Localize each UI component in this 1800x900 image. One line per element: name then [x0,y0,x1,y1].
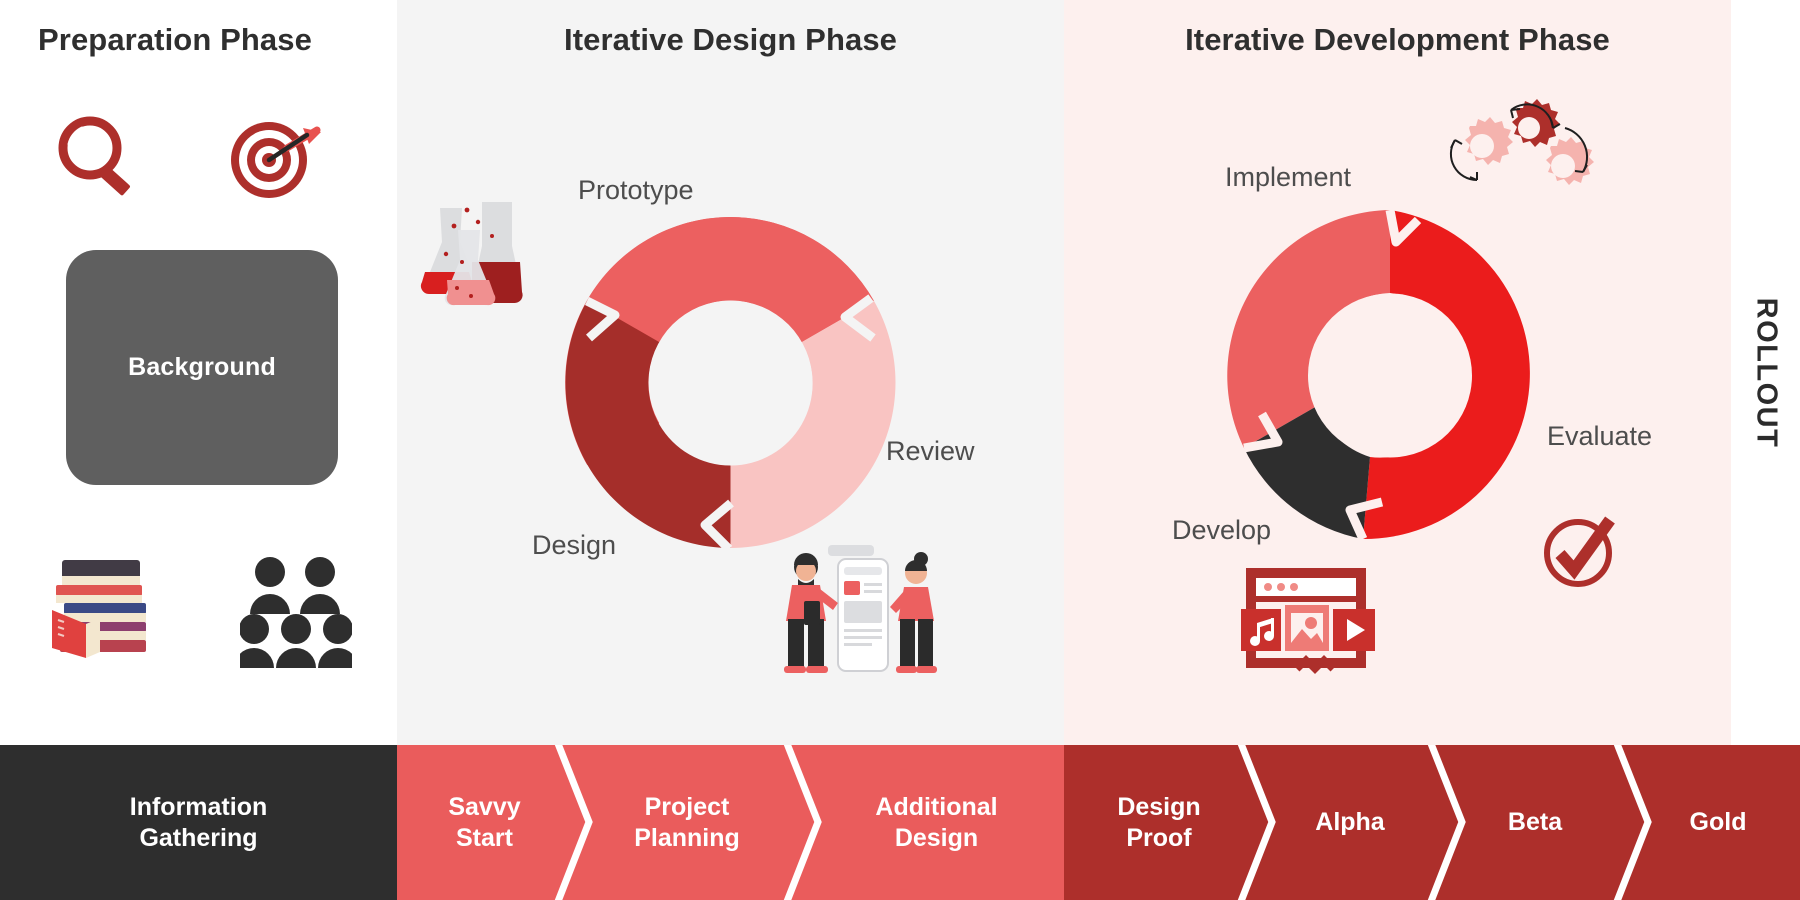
step-label: Gold [1690,807,1747,838]
step-design-proof[interactable]: Design Proof [1064,745,1254,900]
background-box: Background [66,250,338,485]
background-box-label: Background [128,353,276,382]
step-beta[interactable]: Beta [1450,745,1620,900]
media-window-icon [1235,565,1380,690]
preparation-phase-title: Preparation Phase [0,22,312,58]
donut-label-review: Review [886,436,975,467]
step-label: Additional Design [875,792,997,853]
target-icon [225,108,325,209]
iterative-development-phase-title: Iterative Development Phase [1064,22,1731,58]
step-label: Information Gathering [130,792,268,853]
panel-preparation-phase: Preparation Phase Backgr [0,0,397,745]
check-circle-icon [1538,508,1624,599]
donut-label-design: Design [532,530,616,561]
rollout-label: ROLLOUT [1749,297,1782,448]
magnifier-icon [52,112,144,209]
step-label: Savvy Start [448,792,520,853]
infographic-canvas: Preparation Phase Backgr [0,0,1800,900]
step-savvy-start[interactable]: Savvy Start [397,745,572,900]
books-icon [40,548,160,668]
donut-label-evaluate: Evaluate [1547,421,1652,452]
design-cycle-donut-chart [553,205,908,560]
development-cycle-donut-chart [1200,198,1555,553]
step-additional-design[interactable]: Additional Design [809,745,1064,900]
step-gold[interactable]: Gold [1636,745,1800,900]
step-group-development: Design Proof Alpha Beta Gold [1064,745,1800,900]
step-alpha[interactable]: Alpha [1260,745,1440,900]
donut-label-develop: Develop [1172,515,1271,546]
phase-step-bar: Information Gathering Savvy Start Projec… [0,745,1800,900]
step-group-design: Savvy Start Project Planning Additional … [397,745,1064,900]
donut-label-implement: Implement [1225,162,1351,193]
panel-rollout: ROLLOUT [1731,0,1800,745]
iterative-design-phase-title: Iterative Design Phase [397,22,1064,58]
step-label: Beta [1508,807,1562,838]
step-label: Project Planning [634,792,740,853]
gears-icon [1425,98,1595,203]
step-information-gathering[interactable]: Information Gathering [0,745,397,900]
step-label: Alpha [1315,807,1384,838]
people-group-icon [240,556,352,673]
flasks-icon [420,200,550,320]
step-group-preparation: Information Gathering [0,745,397,900]
step-label: Design Proof [1117,792,1200,853]
team-phone-icon [778,545,943,680]
donut-label-prototype: Prototype [578,175,694,206]
step-project-planning[interactable]: Project Planning [577,745,797,900]
